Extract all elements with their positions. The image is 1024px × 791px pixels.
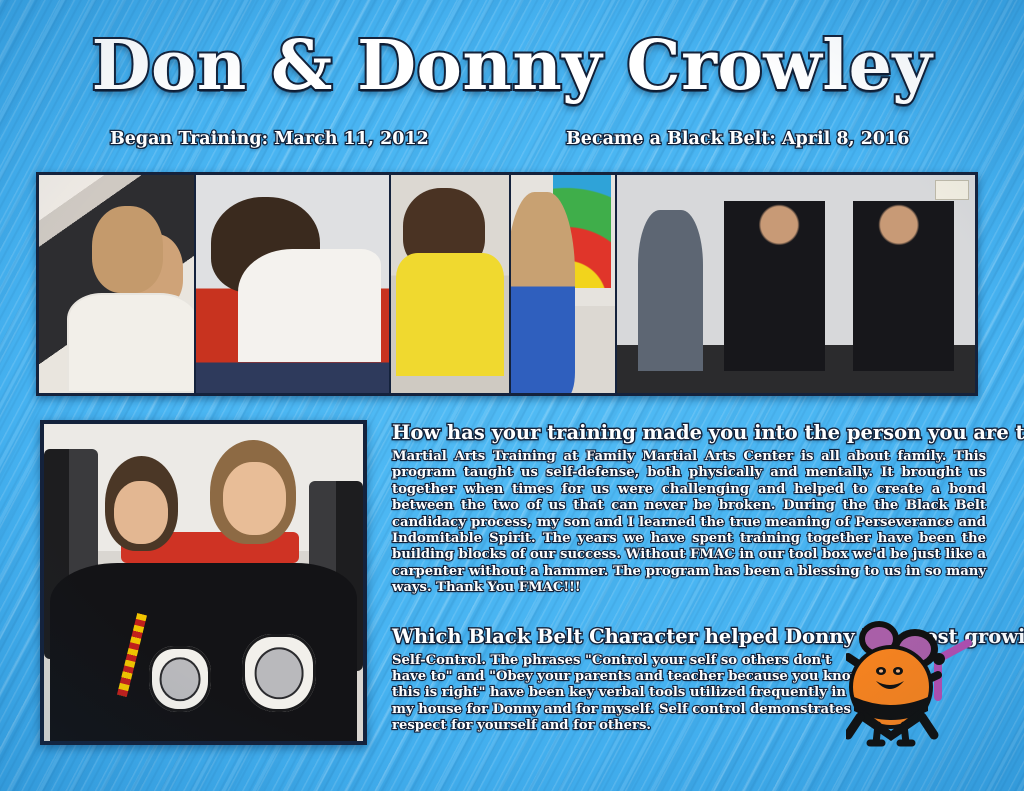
- strip-photo-5: [615, 175, 975, 393]
- photo-strip: [36, 172, 978, 396]
- strip-photo-4: [509, 175, 615, 393]
- strip-photo-1: [39, 175, 194, 393]
- question-1-heading: How has your training made you into the …: [392, 420, 986, 445]
- page-title: Don & Donny Crowley: [0, 28, 1024, 104]
- orange-mouse-mascot-icon: [846, 613, 978, 749]
- strip-photo-3: [389, 175, 509, 393]
- black-belt-date-label: Became a Black Belt: April 8, 2016: [566, 128, 909, 150]
- uniform-patch-father: [242, 634, 316, 712]
- began-training-label: Began Training: March 11, 2012: [110, 128, 429, 150]
- uniform-patch-son: [149, 646, 211, 712]
- answer-1-text: Martial Arts Training at Family Martial …: [392, 449, 986, 597]
- poster-canvas: Don & Donny Crowley Began Training: Marc…: [0, 0, 1024, 791]
- answer-2-text: Self-Control. The phrases "Control your …: [392, 653, 862, 735]
- strip-photo-2: [194, 175, 389, 393]
- father-face: [223, 462, 287, 535]
- son-face: [114, 481, 168, 544]
- wall-sign: [935, 180, 969, 200]
- feature-photo: [40, 420, 367, 745]
